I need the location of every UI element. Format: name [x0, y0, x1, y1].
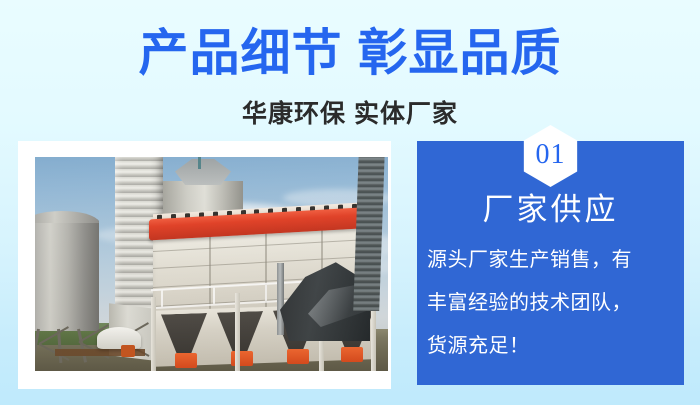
- exhaust-stack-pipe: [277, 263, 284, 335]
- discharge-valve: [287, 349, 309, 364]
- product-photo: [35, 157, 388, 371]
- info-panel-body: 源头厂家生产销售，有 丰富经验的技术团队， 货源充足！: [427, 239, 677, 368]
- product-detail-banner: 产品细节 彰显品质 华康环保 实体厂家: [0, 0, 700, 405]
- discharge-valve: [175, 353, 197, 368]
- hexagon-badge-icon: 01: [520, 125, 582, 187]
- discharge-valve: [341, 347, 363, 362]
- storage-silo-left: [35, 219, 99, 331]
- orange-drum: [121, 345, 135, 357]
- product-photo-card: [18, 141, 391, 389]
- info-panel-body-line: 货源充足！: [427, 325, 677, 368]
- steel-post: [235, 293, 240, 371]
- info-panel-title: 厂家供应: [417, 191, 684, 229]
- info-panel-body-line: 源头厂家生产销售，有: [427, 239, 677, 282]
- info-panel: 01 厂家供应 源头厂家生产销售，有 丰富经验的技术团队， 货源充足！: [417, 141, 684, 385]
- info-panel-body-line: 丰富经验的技术团队，: [427, 282, 677, 325]
- page-subtitle: 华康环保 实体厂家: [0, 98, 700, 130]
- silo-mast: [198, 157, 201, 169]
- badge-number: 01: [536, 141, 566, 169]
- steel-post: [151, 297, 156, 371]
- page-title: 产品细节 彰显品质: [0, 24, 700, 82]
